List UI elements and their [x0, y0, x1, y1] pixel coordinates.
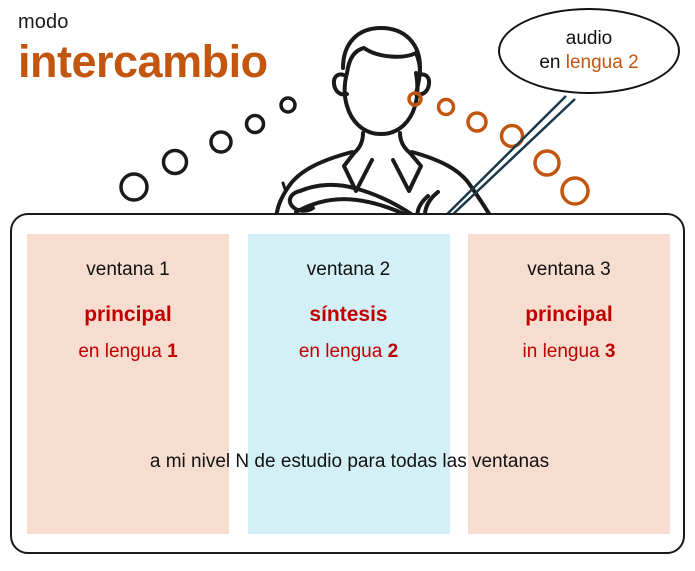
window-1-language-prefix: en lengua — [78, 341, 167, 362]
window-3-header: ventana 3 — [468, 258, 670, 282]
window-1-role: principal — [27, 302, 229, 328]
speech-bubble-prefix: en — [539, 52, 565, 73]
windows-panel: ventana 1 principal en lengua 1 ventana … — [10, 213, 685, 554]
window-column-1[interactable]: ventana 1 principal en lengua 1 — [27, 234, 229, 534]
speech-bubble-line-2: en lengua 2 — [539, 51, 638, 75]
window-3-language: in lengua 3 — [468, 340, 670, 364]
window-3-language-prefix: in lengua — [523, 341, 605, 362]
speech-bubble: audio en lengua 2 — [498, 8, 680, 94]
windows-columns: ventana 1 principal en lengua 1 ventana … — [27, 234, 670, 534]
window-1-language-number: 1 — [167, 341, 178, 362]
person-crossed-arms-icon — [276, 28, 492, 219]
window-2-header: ventana 2 — [248, 258, 450, 282]
window-3-language-number: 3 — [605, 341, 616, 362]
window-2-language-number: 2 — [388, 341, 399, 362]
window-column-2[interactable]: ventana 2 síntesis en lengua 2 — [248, 234, 450, 534]
window-column-3[interactable]: ventana 3 principal in lengua 3 — [468, 234, 670, 534]
speech-bubble-accent: lengua 2 — [566, 52, 639, 73]
window-2-role: síntesis — [248, 302, 450, 328]
window-1-header: ventana 1 — [27, 258, 229, 282]
window-1-language: en lengua 1 — [27, 340, 229, 364]
orange-circles-icon — [409, 93, 588, 204]
window-2-language: en lengua 2 — [248, 340, 450, 364]
window-2-language-prefix: en lengua — [299, 341, 388, 362]
window-3-role: principal — [468, 302, 670, 328]
speech-bubble-line-1: audio — [566, 27, 613, 51]
black-circles-icon — [121, 98, 295, 200]
